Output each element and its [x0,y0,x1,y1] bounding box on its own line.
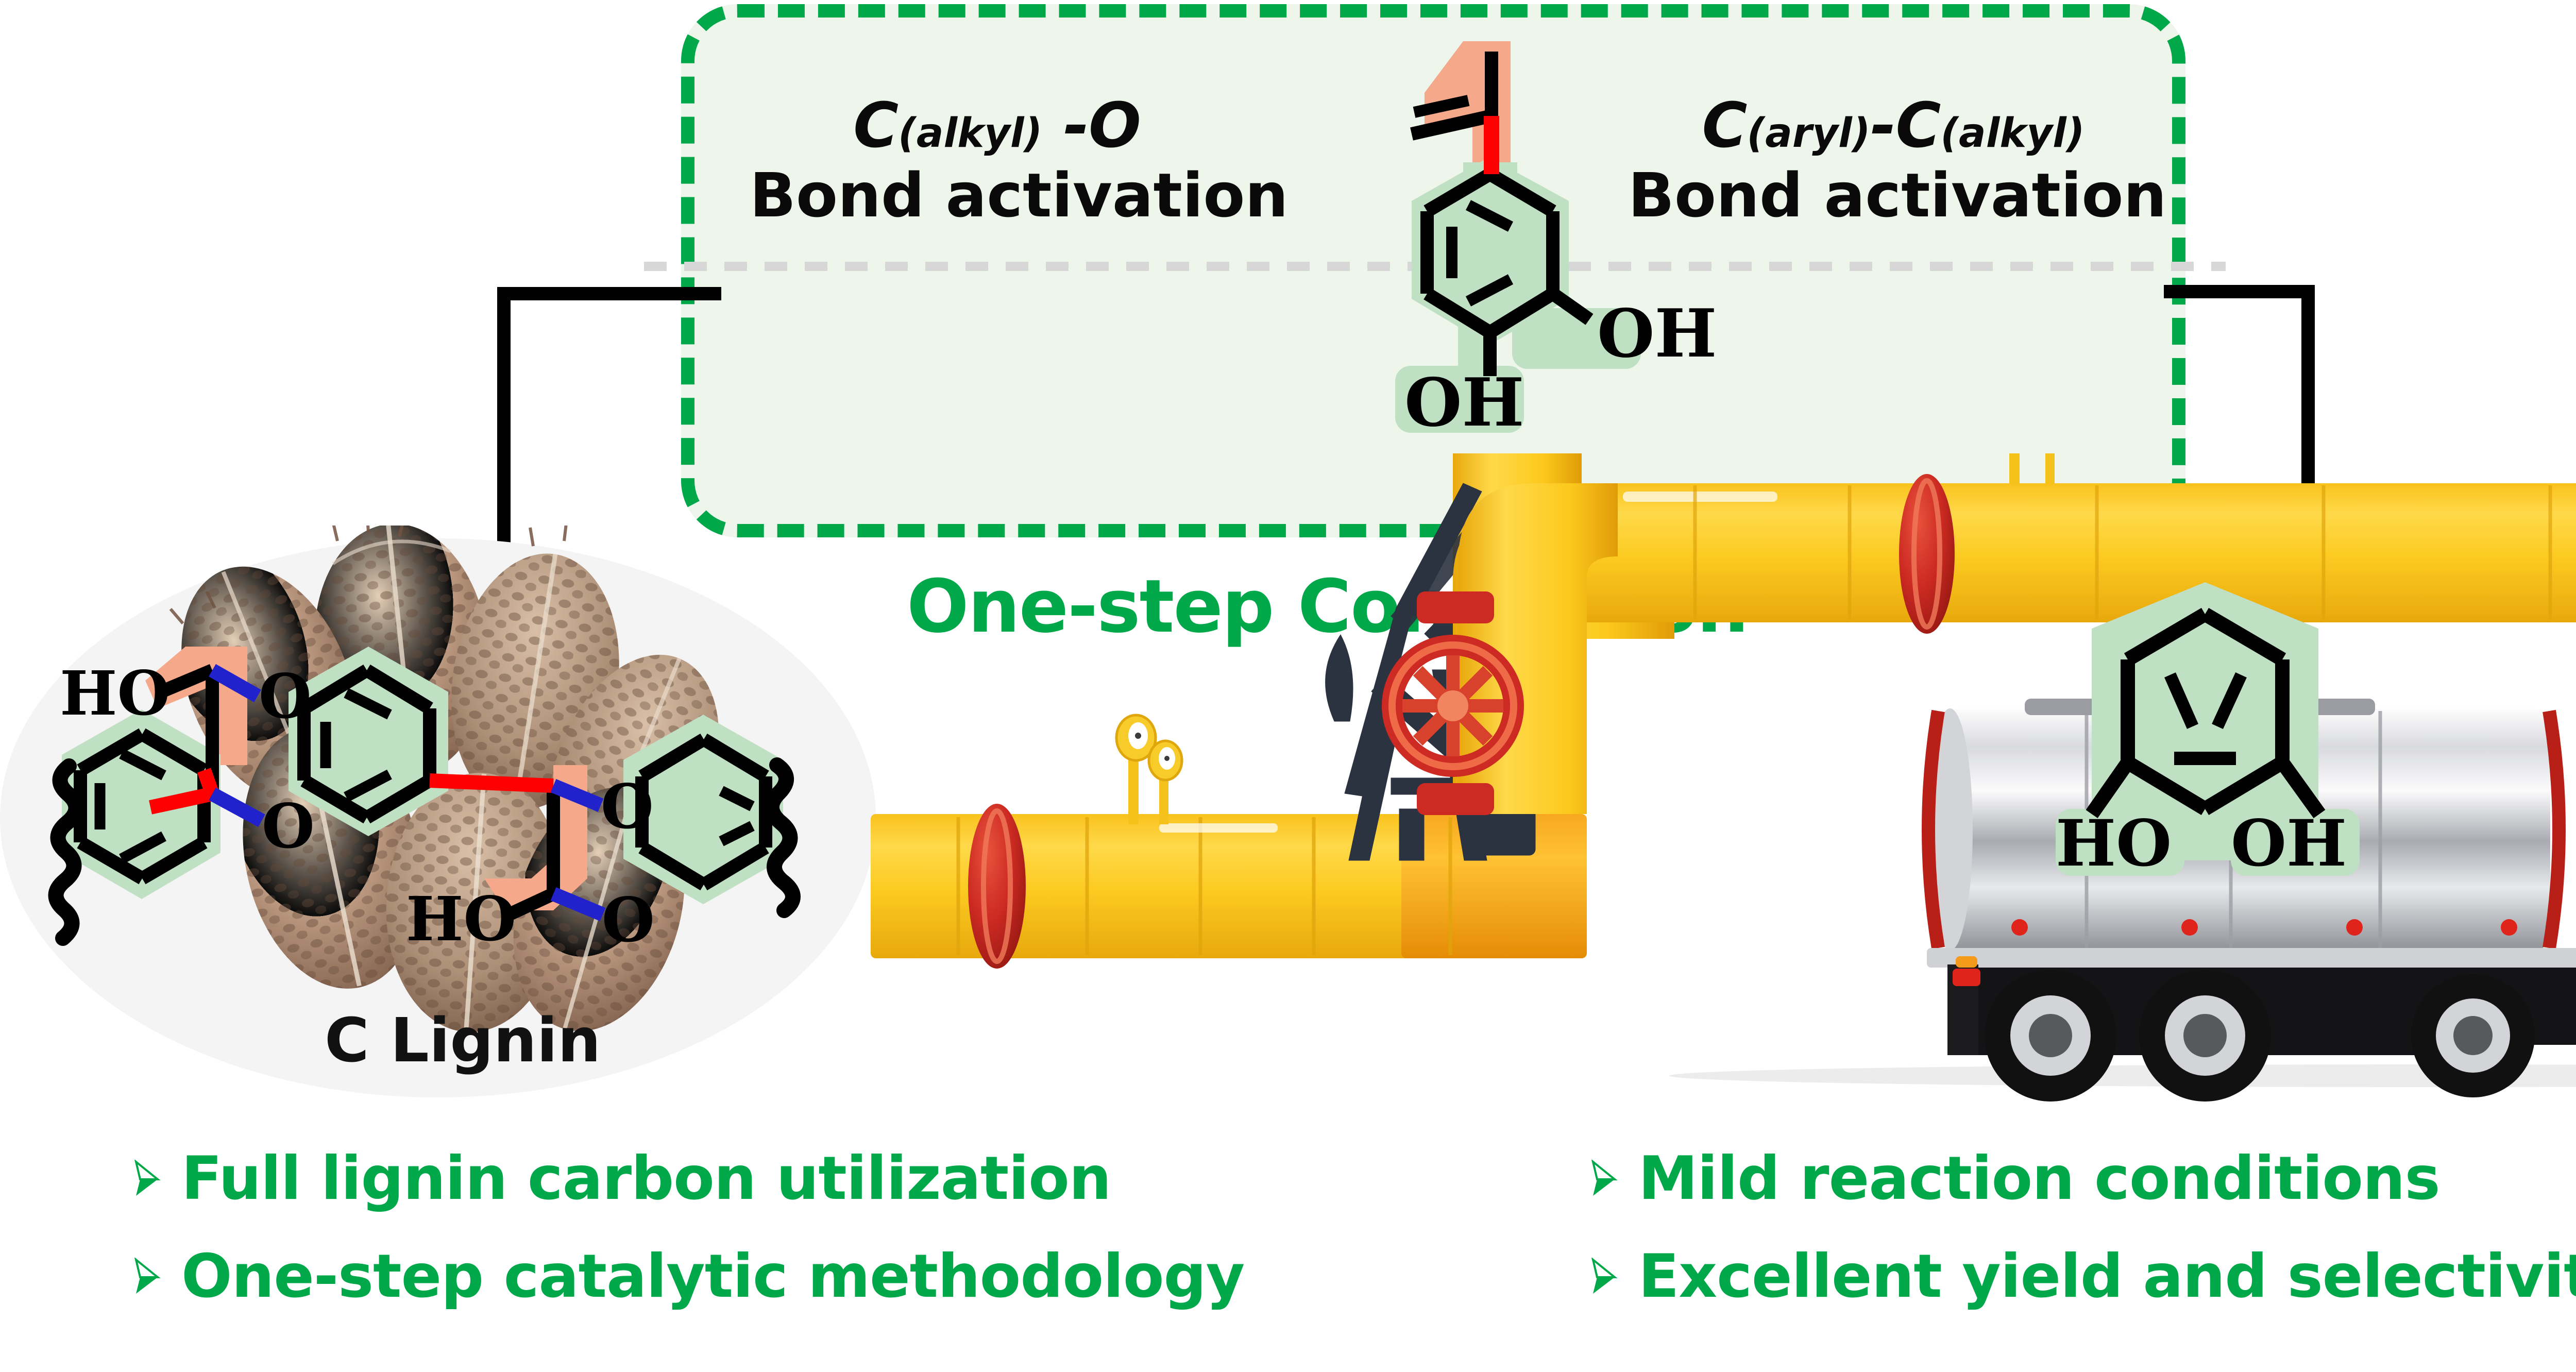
lignin-label-o-1: O [259,660,312,732]
list-item: Mild reaction conditions [1590,1144,2440,1213]
pipe-valve-collar-upper [1899,474,1955,634]
list-item-text: One-step catalytic methodology [181,1242,1244,1311]
list-item: Excellent yield and selectivity [1590,1242,2576,1311]
list-item-text: Excellent yield and selectivity [1638,1242,2576,1311]
pipe-highlight-stripe [1159,823,1278,833]
lignin-label-ho-1: HO [60,657,170,729]
catechol-product-molecule: HO OH [2056,582,2360,881]
lignin-label-o-3: O [601,771,654,842]
c-lignin-label: C Lignin [325,1005,601,1076]
label-left-subscript: (alkyl) [898,110,1042,157]
lignin-label-ho-2: HO [406,883,516,955]
pipe-gauges-lower [1116,715,1182,824]
pipeline-and-tanker-scene: HO OH [871,453,2576,1103]
chevron-right-icon [1590,1160,1618,1198]
oh-label-bottom: OH [1404,364,1524,442]
catechol-label-oh: OH [2231,806,2347,881]
c-lignin-structure: HO O O HO O O [31,636,871,1028]
pipe-valve-collar-left [968,804,1026,969]
label-left-lead: C [853,90,898,162]
lignin-label-o-4: O [602,884,655,956]
lignin-blue-bond-4 [553,894,603,914]
pipe-upper-highlight [1623,492,1777,502]
list-item-text: Full lignin carbon utilization [181,1144,1111,1213]
label-left-tail: -O [1042,90,1141,162]
c-alkyl-o-bond-activation-label: C(alkyl) -O Bond activation [750,93,1244,228]
highlights-list: Full lignin carbon utilization One-step … [0,1133,2576,1370]
label-left-line2: Bond activation [750,163,1244,228]
pipe-upper-horizontal [1535,483,2576,622]
list-item: Full lignin carbon utilization [133,1144,1111,1213]
c-lignin-feedstock-group: HO O O HO O O C Lignin [0,526,902,1108]
oh-label-right: OH [1597,295,1717,372]
lignin-red-bond-2 [430,781,553,786]
chevron-right-icon [1590,1258,1618,1296]
pipe-lower-left [871,814,1489,958]
chevron-right-icon [133,1258,161,1296]
label-right-subscript2: (alkyl) [1940,110,2084,157]
graphical-abstract-canvas: C(alkyl) -O Bond activation C(aryl)-C(al… [0,0,2576,1372]
catechol-label-ho: HO [2056,806,2172,881]
chevron-right-icon [133,1160,161,1198]
lignin-label-o-2: O [262,790,315,862]
propenylcatechol-molecule: OH OH [1309,10,1721,453]
label-right-mid: -C [1871,90,1941,162]
label-right-subscript: (aryl) [1747,110,1871,157]
list-item: One-step catalytic methodology [133,1242,1244,1311]
list-item-text: Mild reaction conditions [1638,1144,2440,1213]
pipe-gauges-upper [1997,453,2069,484]
